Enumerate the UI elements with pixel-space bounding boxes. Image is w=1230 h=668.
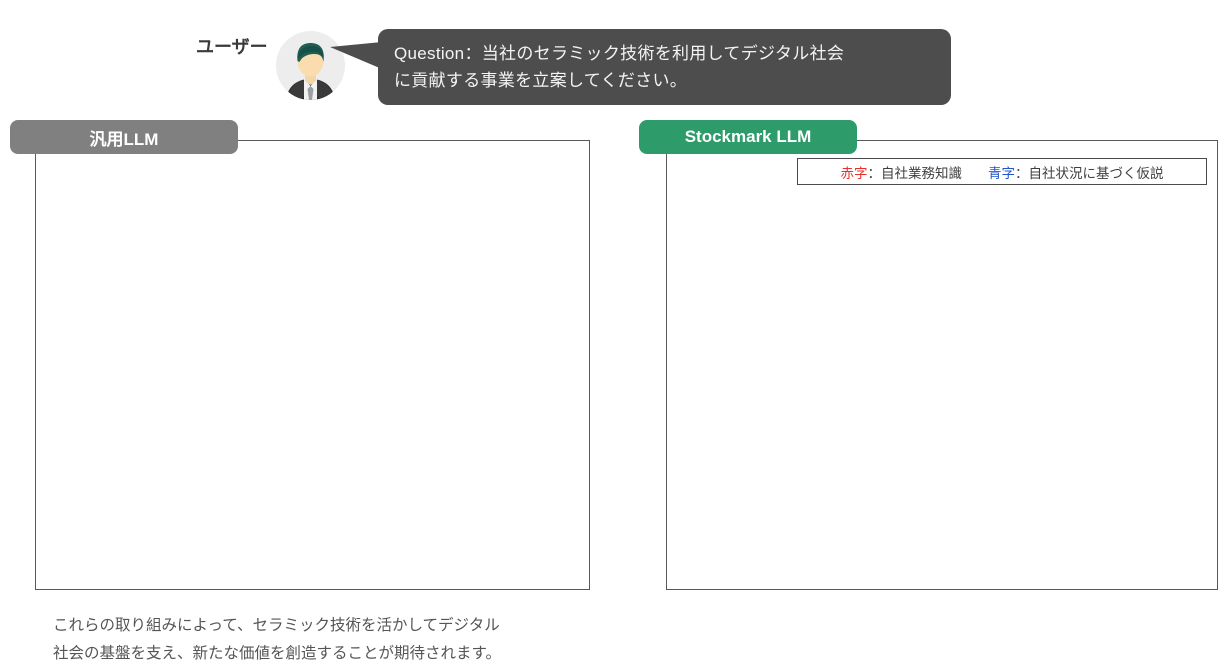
legend-item-blue: 青字：自社状況に基づく仮説: [988, 162, 1164, 182]
color-legend: 赤字：自社業務知識 青字：自社状況に基づく仮説: [797, 158, 1207, 185]
user-role-label: ユーザー: [196, 33, 268, 59]
panel-header-generic-llm-label: 汎用LLM: [90, 125, 159, 150]
speech-bubble-tail-icon: [330, 42, 382, 69]
legend-red-text: ：自社業務知識: [868, 166, 963, 181]
legend-blue-text: ：自社状況に基づく仮説: [1015, 166, 1164, 181]
question-text: Question：当社のセラミック技術を利用してデジタル社会 に貢献する事業を立…: [394, 40, 935, 94]
answer-panel-generic-llm: [35, 140, 590, 590]
panel-header-generic-llm: 汎用LLM: [10, 120, 238, 154]
legend-red-key: 赤字: [841, 166, 868, 181]
panel-header-stockmark-llm: Stockmark LLM: [639, 120, 857, 154]
panel-header-stockmark-llm-label: Stockmark LLM: [685, 127, 812, 147]
answer-panel-stockmark-llm: [666, 140, 1218, 590]
question-speech-bubble: Question：当社のセラミック技術を利用してデジタル社会 に貢献する事業を立…: [378, 29, 951, 105]
legend-item-red: 赤字：自社業務知識: [841, 162, 963, 182]
legend-blue-key: 青字: [988, 166, 1015, 181]
